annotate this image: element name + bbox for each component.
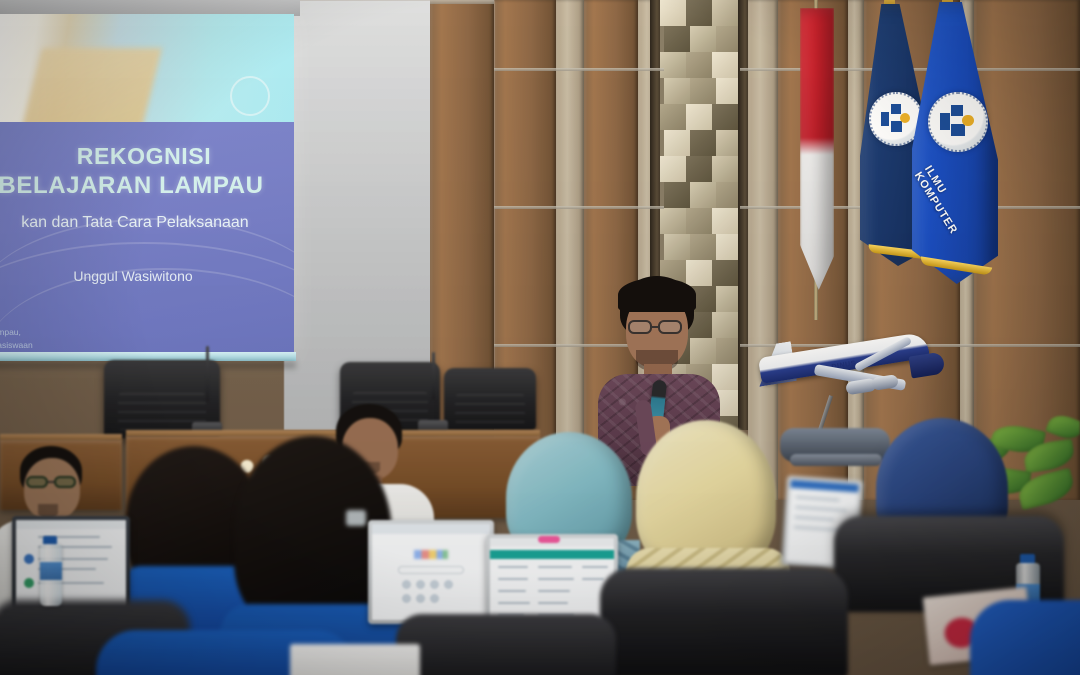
desk-microphone [432, 352, 435, 400]
table-cell [582, 578, 604, 580]
screen-text-row [794, 526, 842, 531]
relief-cube [664, 234, 690, 260]
attendee-left-glasses-left [26, 476, 48, 488]
table-cell [582, 566, 608, 568]
table-cell [498, 566, 528, 568]
paper-document [290, 644, 420, 675]
table-cell [538, 578, 574, 580]
browser-toolbar [372, 524, 490, 534]
relief-cube [716, 234, 740, 260]
plane-stand-foot [790, 454, 882, 466]
emblem-sun [962, 115, 974, 127]
relief-cube [690, 338, 716, 364]
relief-cube [686, 104, 712, 130]
relief-cube [664, 182, 690, 208]
screen-avatar-icon [24, 554, 34, 564]
relief-cube [664, 78, 690, 104]
presentation-slide: REKOGNISI BELAJARAN LAMPAU kan dan Tata … [0, 14, 294, 356]
slide-title: REKOGNISI BELAJARAN LAMPAU [0, 142, 294, 202]
relief-cube [686, 260, 712, 286]
emblem-square [940, 113, 950, 130]
slide-footer-line1: an Lampau, [0, 326, 176, 339]
emblem-square [891, 121, 902, 132]
relief-cube [712, 208, 738, 234]
table-cell [538, 590, 570, 592]
wall-panel [430, 0, 494, 430]
relief-cube [712, 104, 738, 130]
relief-cube [690, 182, 716, 208]
slide-decor-wedge [22, 48, 162, 128]
laptop-center-lid [368, 520, 494, 624]
wall-panel-light [556, 0, 584, 500]
slide-subtitle: kan dan Tata Cara Pelaksanaan [0, 214, 294, 232]
laptop-sticker [538, 536, 560, 543]
laptop-left-lid [12, 516, 130, 610]
slide-title-line1: REKOGNISI [77, 143, 211, 169]
wall-reveal-line [494, 68, 664, 71]
relief-cube [712, 364, 738, 390]
slide-footer-line2: emahasiswaan [0, 339, 176, 352]
relief-cube [660, 104, 686, 130]
wall-panel-light [848, 0, 864, 500]
browser-toolbar [16, 520, 126, 529]
relief-cube [690, 234, 716, 260]
slide-author: Unggul Wasiwitono [0, 268, 294, 284]
relief-cube [712, 312, 738, 338]
relief-cube [686, 156, 712, 182]
chair-foreground-mid [396, 614, 616, 675]
app-header-bar [790, 480, 858, 493]
wall-panel-light [748, 0, 778, 500]
relief-cube [716, 182, 740, 208]
screen-text-row [794, 516, 834, 521]
attendee-blue-sleeve [970, 600, 1080, 675]
chair-foreground-center [600, 568, 848, 675]
relief-cube [660, 52, 686, 78]
emblem-square [951, 105, 963, 116]
attendee-left-glasses-bridge [48, 481, 54, 483]
relief-cube [664, 26, 690, 52]
relief-cube [716, 78, 740, 104]
laptop-left-screen[interactable] [16, 520, 126, 606]
bottle-label [40, 562, 62, 580]
slide-decor-ring [230, 76, 270, 116]
shortcut-icon[interactable] [430, 594, 439, 603]
relief-cube [686, 0, 712, 26]
table-cell [538, 566, 572, 568]
wall-reveal-line [494, 206, 664, 209]
app-header-bar [490, 550, 614, 559]
speaker-glasses-bridge [652, 326, 658, 328]
attendee-left-glasses-right [54, 476, 76, 488]
emblem-square [951, 124, 964, 136]
hair-clip [346, 510, 366, 526]
search-box[interactable] [398, 566, 464, 574]
relief-cube [690, 130, 716, 156]
google-logo [414, 550, 448, 559]
photograph-scene: REKOGNISI BELAJARAN LAMPAU kan dan Tata … [0, 0, 1080, 675]
shortcut-icon[interactable] [416, 594, 425, 603]
emblem-square [881, 112, 890, 127]
shortcut-icon[interactable] [416, 580, 425, 589]
slide-footer: an Lampau, emahasiswaan [0, 326, 176, 352]
shortcut-icon[interactable] [430, 580, 439, 589]
relief-cube [716, 286, 740, 312]
speaker-hair-top [618, 278, 696, 312]
relief-cube [686, 52, 712, 78]
relief-cube [716, 130, 740, 156]
table-cell [538, 602, 568, 604]
relief-cube [716, 26, 740, 52]
relief-cube [716, 338, 740, 364]
shortcut-icon[interactable] [444, 580, 453, 589]
laptop-center-screen[interactable] [372, 524, 490, 620]
flag-cloth [800, 8, 834, 290]
shortcut-icon[interactable] [402, 594, 411, 603]
screen-status-icon [24, 578, 34, 588]
table-cell [498, 590, 526, 592]
slide-header-band [0, 14, 294, 122]
relief-cube [712, 156, 738, 182]
emblem-square [891, 104, 901, 114]
relief-cube [690, 26, 716, 52]
chair-back-right [444, 368, 536, 430]
emblem-inner [879, 102, 912, 135]
relief-cube [690, 78, 716, 104]
desk-microphone [206, 346, 209, 402]
emblem-sun [900, 113, 910, 123]
shortcut-icon[interactable] [402, 580, 411, 589]
table-cell [498, 578, 528, 580]
screen-text-row [795, 506, 847, 512]
relief-cube [660, 0, 686, 26]
relief-cube [712, 52, 738, 78]
slide-title-line2: BELAJARAN LAMPAU [0, 171, 294, 202]
emblem-inner [939, 103, 976, 140]
relief-cube [664, 130, 690, 156]
speaker-glasses-left [628, 320, 652, 334]
university-emblem [928, 92, 988, 152]
relief-cube [660, 208, 686, 234]
wall-reveal-line [430, 0, 494, 4]
relief-cube [660, 156, 686, 182]
relief-cube [712, 0, 738, 26]
speaker-glasses-right [658, 320, 682, 334]
relief-cube [686, 208, 712, 234]
screen-text-row [796, 496, 840, 501]
projector-screen: REKOGNISI BELAJARAN LAMPAU kan dan Tata … [0, 14, 294, 356]
relief-cube [712, 260, 738, 286]
table-cell [498, 602, 530, 604]
